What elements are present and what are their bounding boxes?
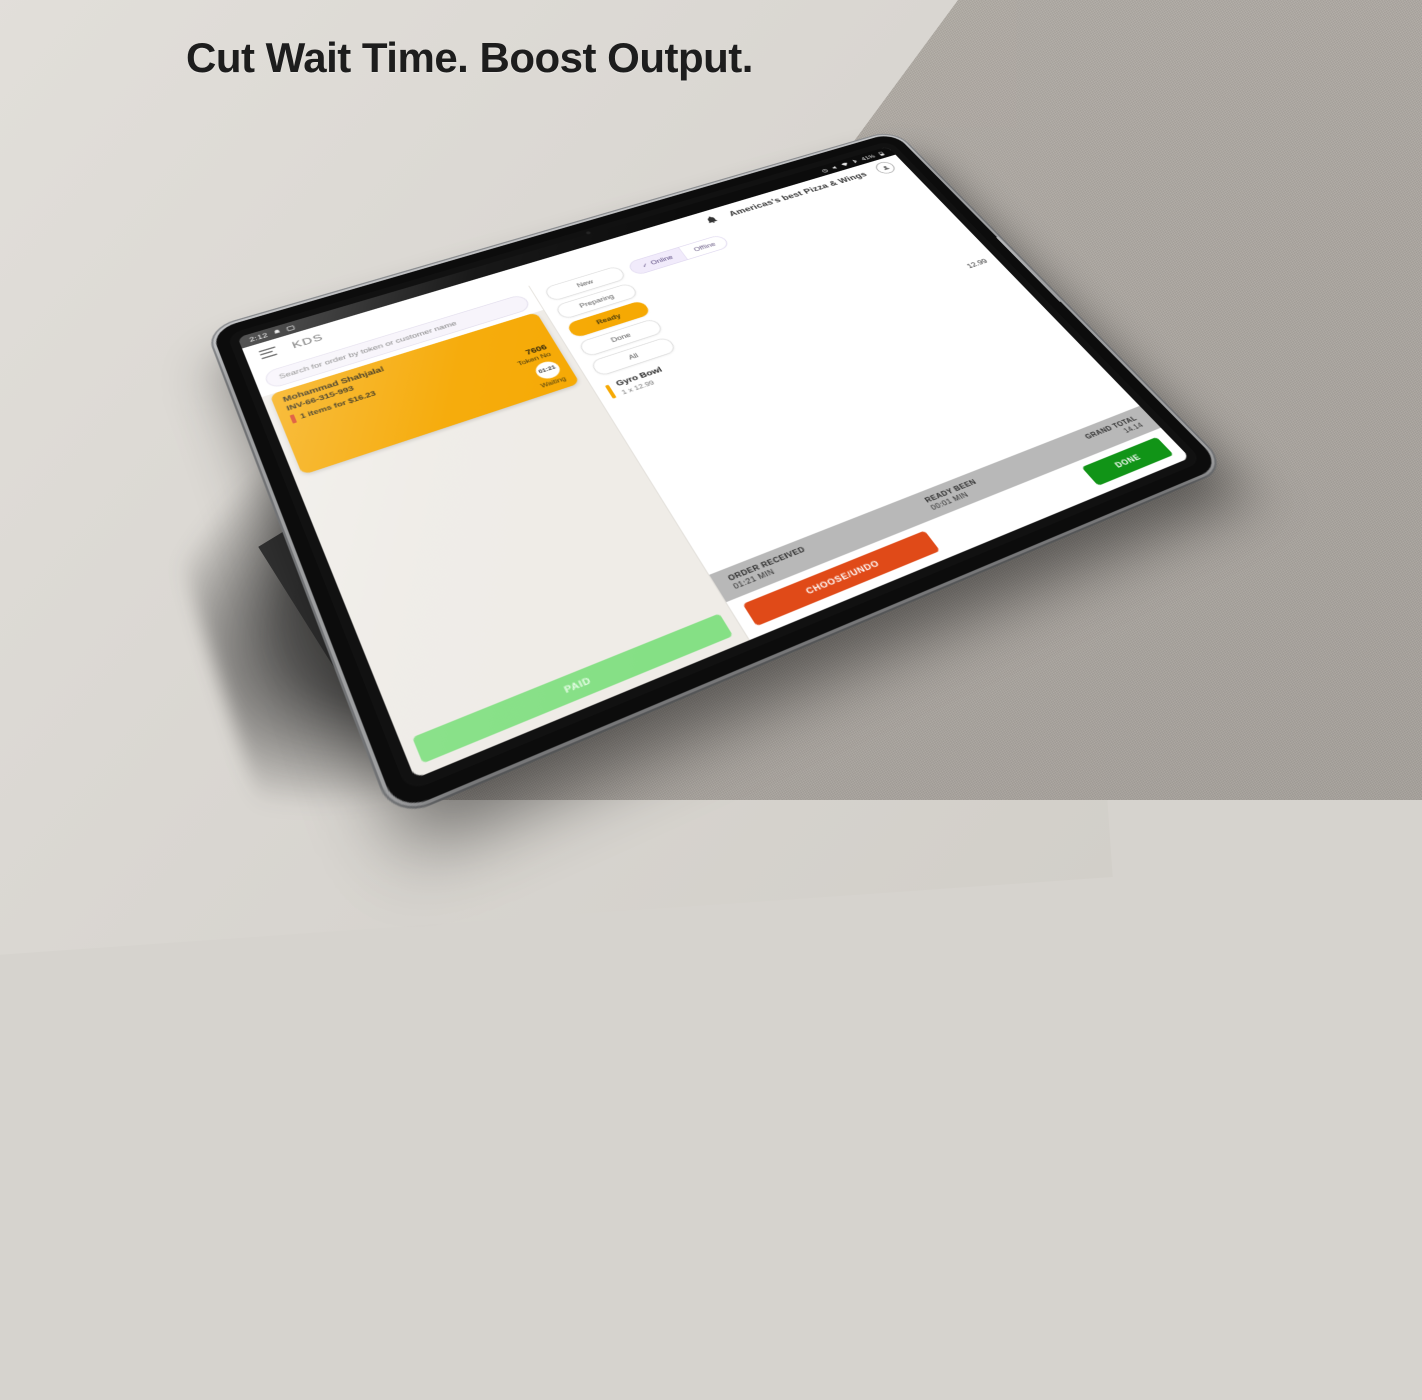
tablet-bezel: 2:12 [227,141,1204,793]
wifi-icon [840,161,850,167]
account-circle-icon[interactable] [873,160,898,175]
screenshot-icon [285,324,296,332]
order-received-block: ORDER RECEIVED 01:21 MIN [726,545,812,590]
order-received-label: ORDER RECEIVED [726,545,806,582]
volume-icon [830,164,840,170]
bluetooth-icon [850,158,860,164]
order-items-summary: 1 items for $16.23 [299,390,377,420]
tablet-screen: 2:12 [238,146,1190,778]
check-icon: ✓ [640,262,649,269]
item-price: 12.99 [965,258,989,270]
paid-button[interactable]: PAID [412,614,733,764]
ready-been-block: READY BEEN 00:01 MIN [923,478,984,512]
app-body: Mohammad Shahjalal INV-66-315-993 1 item… [251,170,1190,778]
order-received-value: 01:21 MIN [732,553,813,591]
ready-been-label: READY BEEN [923,478,978,504]
connection-online-label: Online [649,254,674,266]
grand-total-value: 14.14 [1122,421,1145,434]
tablet-scene: 2:12 [0,0,1422,800]
grand-total-label: GRAND TOTAL [1083,415,1138,441]
bell-icon[interactable] [703,215,720,225]
done-button[interactable]: DONE [1081,437,1173,486]
alarm-icon [819,167,829,173]
orders-panel-footer: PAID [396,601,748,779]
order-status-strip: ORDER RECEIVED 01:21 MIN READY BEEN 00:0… [709,406,1161,602]
item-marker-icon [604,385,616,399]
notification-icon [271,328,282,336]
hamburger-menu-icon[interactable] [258,346,278,359]
choose-undo-button[interactable]: CHOOSE/UNDO [742,531,940,627]
action-bar: CHOOSE/UNDO DONE [726,428,1190,640]
app-title: KDS [290,331,325,350]
connection-offline-label: Offline [692,241,717,253]
tablet-device: 2:12 [211,132,1223,813]
grand-total-block: GRAND TOTAL 14.14 [1083,415,1145,448]
ready-been-value: 00:01 MIN [929,485,984,511]
battery-icon [876,151,886,157]
order-priority-bar-icon [290,414,297,423]
